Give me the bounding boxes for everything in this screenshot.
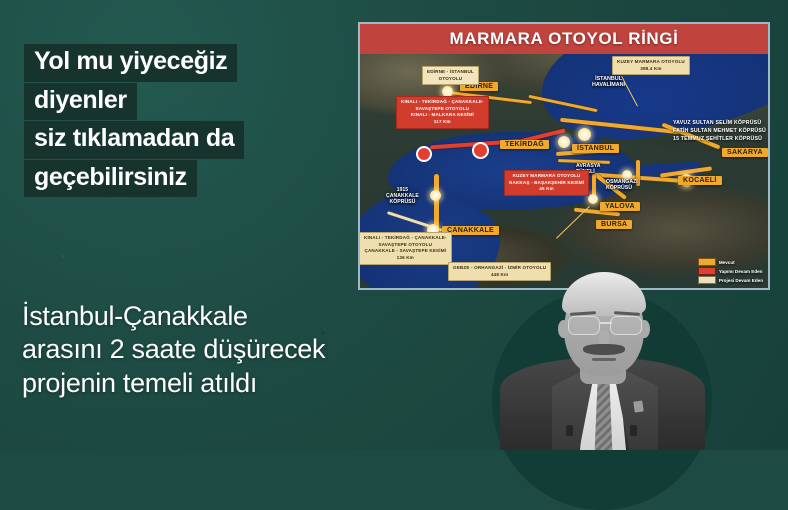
legend-swatch-mevcut — [698, 258, 716, 266]
label-osmangazi-line2: KÖPRÜSÜ — [606, 186, 638, 192]
callout-edirne-line1: EDİRNE - İSTANBUL — [427, 69, 474, 76]
label-fatih-sultan-mehmet-koprusu: FATİH SULTAN MEHMET KÖPRÜSÜ — [673, 128, 766, 134]
callout-savastepe-line4: 136 Km — [364, 255, 447, 262]
legend-label-projesi-devam-eden: Projesi Devam Eden — [719, 278, 763, 283]
callout-kuzey-line2: 398.4 Km — [617, 66, 685, 73]
headline-line-3: siz tıklamadan da — [24, 121, 244, 159]
map-title-banner: MARMARA OTOYOL RİNGİ — [360, 24, 768, 54]
map-node-canakkale-bridge — [430, 190, 441, 201]
callout-kuzey-line1: KUZEY MARMARA OTOYOLU — [617, 59, 685, 66]
eyeglass-lens-right — [610, 316, 642, 335]
legend-item-mevcut: Mevcut — [698, 258, 763, 266]
callout-savastepe-line3: ÇANAKKALE - SAVAŞTEPE KESİMİ — [364, 248, 447, 255]
city-label-tekirdag: TEKİRDAĞ — [500, 140, 549, 149]
label-yavuz-sultan-selim-koprusu: YAVUZ SULTAN SELİM KÖPRÜSÜ — [673, 120, 761, 126]
subheadline-line-2: arasını 2 saate düşürecek — [22, 333, 325, 366]
subheadline-line-3: projenin temeli atıldı — [22, 367, 325, 400]
callout-kuzey-marmara-otoyolu: KUZEY MARMARA OTOYOLU 398.4 Km — [612, 56, 690, 75]
callout-kinali-malkara-kesimi: KINALI - TEKİRDAĞ - ÇANAKKALE- SAVAŞTEPE… — [396, 96, 489, 129]
flag-lapel-pin — [633, 400, 643, 412]
city-label-istanbul: İSTANBUL — [572, 144, 619, 153]
marmara-highway-ring-map: EDİRNE TEKİRDAĞ ÇANAKKALE İSTANBUL YALOV… — [358, 22, 770, 290]
hair — [562, 272, 646, 316]
callout-kinali-line3: KINALI - MALKARA KESİMİ — [401, 112, 484, 119]
legend-item-projesi-devam-eden: Projesi Devam Eden — [698, 276, 763, 284]
label-15-temmuz-sehitler-koprusu: 15 TEMMUZ ŞEHİTLER KÖPRÜSÜ — [673, 136, 762, 142]
map-node-istanbul — [578, 128, 591, 141]
headline-line-1: Yol mu yiyeceğiz — [24, 44, 237, 82]
callout-edirne-line2: OTOYOLU — [427, 76, 474, 83]
map-title-text: MARMARA OTOYOL RİNGİ — [450, 29, 679, 49]
legend-item-yapimi-devam-eden: Yapımı Devam Eden — [698, 267, 763, 275]
headline: Yol mu yiyeceğiz diyenler siz tıklamadan… — [24, 44, 244, 197]
callout-edirne-istanbul-otoyolu: EDİRNE - İSTANBUL OTOYOLU — [422, 66, 479, 85]
subheadline-line-1: İstanbul-Çanakkale — [22, 300, 325, 333]
city-label-sakarya: SAKARYA — [722, 148, 768, 157]
map-legend: Mevcut Yapımı Devam Eden Projesi Devam E… — [698, 258, 763, 284]
official-portrait — [500, 268, 705, 450]
label-1915-canakkale-koprusu: 1915 ÇANAKKALE KÖPRÜSÜ — [386, 188, 419, 206]
map-node-istanbul-airport — [558, 136, 570, 148]
mouth — [592, 358, 616, 361]
subheadline: İstanbul-Çanakkale arasını 2 saate düşür… — [22, 300, 325, 400]
eyeglass-lens-left — [568, 316, 600, 335]
lapel-microphone-left — [566, 425, 573, 436]
city-label-bursa: BURSA — [596, 220, 632, 229]
legend-label-yapimi-devam-eden: Yapımı Devam Eden — [719, 269, 763, 274]
label-canakkale-br-line3: KÖPRÜSÜ — [386, 200, 419, 206]
label-istanbul-airport-line2: HAVALİMANI — [592, 82, 625, 88]
legend-label-mevcut: Mevcut — [719, 260, 735, 265]
label-osmangazi-koprusu: OSMANGAZİ KÖPRÜSÜ — [606, 180, 638, 192]
callout-kinali-line1: KINALI - TEKİRDAĞ - ÇANAKKALE- — [401, 99, 484, 106]
city-label-yalova: YALOVA — [600, 202, 640, 211]
headline-line-4: geçebilirsiniz — [24, 160, 197, 198]
headline-line-2: diyenler — [24, 83, 137, 121]
map-node-yalova — [588, 194, 598, 204]
callout-canakkale-savastepe-kesimi: KINALI - TEKİRDAĞ - ÇANAKKALE- SAVAŞTEPE… — [359, 232, 452, 265]
city-label-kocaeli: KOCAELİ — [678, 176, 722, 185]
callout-nakkas-line1: KUZEY MARMARA OTOYOLU — [509, 173, 584, 180]
callout-kinali-line4: 117 Km — [401, 119, 484, 126]
eyeglasses — [566, 316, 644, 334]
mustache — [583, 344, 625, 355]
callout-nakkas-line2: NAKKAŞ - BAŞAKŞEHİR KESİMİ — [509, 180, 584, 187]
label-istanbul-airport: İSTANBUL HAVALİMANI — [592, 76, 625, 88]
callout-nakkas-line3: 45 Km — [509, 186, 584, 193]
map-node-malkara — [416, 146, 432, 162]
callout-kuzey-marmara-nakkas-basaksehir: KUZEY MARMARA OTOYOLU NAKKAŞ - BAŞAKŞEHİ… — [504, 170, 589, 196]
callout-savastepe-line1: KINALI - TEKİRDAĞ - ÇANAKKALE- — [364, 235, 447, 242]
bridge-label-list: YAVUZ SULTAN SELİM KÖPRÜSÜ FATİH SULTAN … — [673, 120, 766, 142]
lapel-microphone-right — [630, 425, 637, 436]
map-node-kinali — [472, 142, 489, 159]
